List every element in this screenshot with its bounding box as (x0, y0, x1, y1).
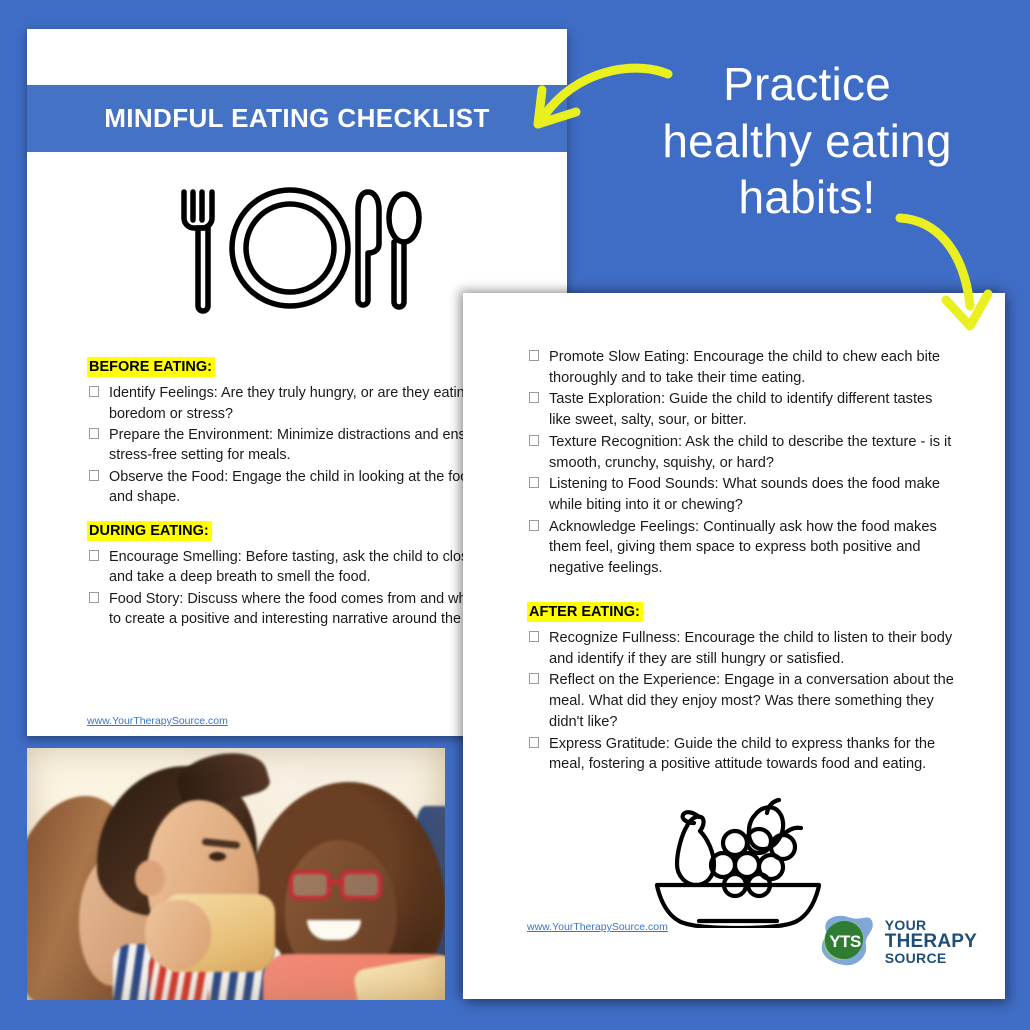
section-heading-during-eating: DURING EATING: (87, 521, 212, 541)
list-item: Promote Slow Eating: Encourage the child… (527, 347, 957, 388)
list-item-text: Taste Exploration: Guide the child to id… (549, 391, 932, 428)
list-item-text: Recognize Fullness: Encourage the child … (549, 630, 952, 667)
checkbox-icon[interactable] (529, 737, 539, 748)
list-item-text: Express Gratitude: Guide the child to ex… (549, 736, 935, 773)
checkbox-icon[interactable] (529, 435, 539, 446)
your-therapy-source-logo[interactable]: YTS YOUR THERAPY SOURCE (816, 911, 977, 971)
arrow-pointing-to-title-icon (520, 56, 680, 146)
after-eating-list: Recognize Fullness: Encourage the child … (527, 628, 957, 775)
list-item-text: Identify Feelings: Are they truly hungry… (109, 385, 513, 421)
checkbox-icon[interactable] (529, 477, 539, 488)
list-item-text: Promote Slow Eating: Encourage the child… (549, 349, 940, 386)
checkbox-icon[interactable] (529, 631, 539, 642)
list-item: Reflect on the Experience: Engage in a c… (527, 670, 957, 732)
list-item-text: Listening to Food Sounds: What sounds do… (549, 476, 940, 513)
section-heading-before-eating: BEFORE EATING: (87, 357, 215, 377)
checkbox-icon[interactable] (529, 350, 539, 361)
logo-word-therapy: THERAPY (885, 932, 977, 951)
checkbox-icon[interactable] (529, 520, 539, 531)
checkbox-icon[interactable] (89, 428, 99, 439)
page-title: MINDFUL EATING CHECKLIST (104, 103, 490, 134)
checkbox-icon[interactable] (529, 392, 539, 403)
logo-word-your: YOUR (885, 918, 977, 932)
photo-vignette (27, 748, 445, 1000)
poster-canvas: MINDFUL EATING CHECKLIST (0, 0, 1030, 1030)
checkbox-icon[interactable] (529, 673, 539, 684)
arrow-pointing-to-page-two-icon (890, 210, 1010, 340)
yts-wordmark: YOUR THERAPY SOURCE (885, 918, 977, 965)
page-two-footer: www.YourTherapySource.com YTS YOUR THERA… (463, 907, 1005, 977)
list-item-text: Acknowledge Feelings: Continually ask ho… (549, 519, 937, 576)
page-one-title-band: MINDFUL EATING CHECKLIST (27, 85, 567, 152)
checklist-page-two: Promote Slow Eating: Encourage the child… (463, 293, 1005, 999)
page-two-content: Promote Slow Eating: Encourage the child… (527, 347, 957, 788)
section-heading-after-eating: AFTER EATING: (527, 602, 643, 622)
list-item-text: Reflect on the Experience: Engage in a c… (549, 672, 954, 729)
children-eating-photo (27, 748, 445, 1000)
list-item: Listening to Food Sounds: What sounds do… (527, 474, 957, 515)
list-item: Taste Exploration: Guide the child to id… (527, 389, 957, 430)
page-two-website-link[interactable]: www.YourTherapySource.com (527, 921, 668, 933)
svg-text:YTS: YTS (829, 932, 861, 951)
list-item: Recognize Fullness: Encourage the child … (527, 628, 957, 669)
yts-blob-icon: YTS (816, 911, 876, 971)
list-item: Express Gratitude: Guide the child to ex… (527, 734, 957, 775)
checkbox-icon[interactable] (89, 386, 99, 397)
checkbox-icon[interactable] (89, 470, 99, 481)
checkbox-icon[interactable] (89, 550, 99, 561)
logo-word-source: SOURCE (885, 951, 977, 965)
list-item: Texture Recognition: Ask the child to de… (527, 432, 957, 473)
checkbox-icon[interactable] (89, 592, 99, 603)
page-one-website-link[interactable]: www.YourTherapySource.com (87, 715, 228, 727)
list-item: Acknowledge Feelings: Continually ask ho… (527, 517, 957, 579)
during-eating-continued-list: Promote Slow Eating: Encourage the child… (527, 347, 957, 579)
list-item-text: Texture Recognition: Ask the child to de… (549, 434, 951, 471)
